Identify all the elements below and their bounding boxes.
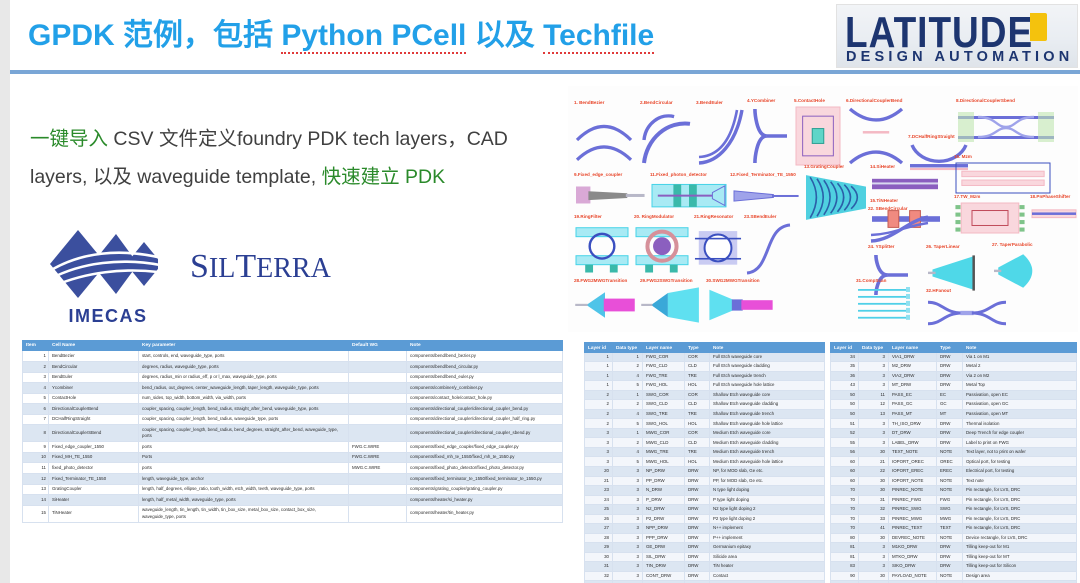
layer-a-cell-r13-c3: DRW: [685, 476, 710, 486]
cell-cell-r12-c1: GratingCoupler: [49, 484, 139, 495]
layer-b-cell-r14-c3: NOTE: [937, 486, 963, 496]
layer-b-cell-r16-c1: 32: [859, 505, 889, 515]
layer-b-cell-r7-c4: Thermal isolation: [963, 419, 1077, 429]
cell-cell-r6-c1: DCHalfRingStraight: [49, 414, 139, 425]
layer-b-cell-r16-c2: PINREC_SWG: [889, 505, 937, 515]
layer-a-cell-r7-c0: 2: [585, 419, 613, 429]
layer-a-cell-r23-c3: DRW: [685, 571, 710, 581]
cell-col-1: Cell Name: [49, 341, 139, 351]
layer-a-cell-r10-c1: 4: [613, 447, 643, 457]
layer-a-cell-r14-c4: N type light doping: [710, 486, 825, 496]
layer-b-cell-r16-c0: 70: [831, 505, 859, 515]
cell-cell-r0-c1: BendBezier: [49, 351, 139, 362]
layer-b-col-2: Layer name: [889, 343, 937, 353]
table-row: 283PPP_DRWDRWP++ implement: [585, 533, 825, 543]
gallery-label: 18.PnPhaseShifter: [1030, 194, 1070, 199]
table-row: 10Fixed_MH_TE_1550PortsFWG.C.WIREcompone…: [23, 452, 563, 463]
layer-a-cell-r20-c2: GE_DRW: [643, 543, 685, 553]
cell-cell-r14-c0: 15: [23, 505, 49, 522]
layer-b-cell-r16-c4: Pin rectangle, for LVS, DRC: [963, 505, 1077, 515]
layer-b-cell-r17-c2: PINREC_MWG: [889, 514, 937, 524]
gallery-item-tw-mzm: 17.TW_Mzm: [954, 194, 1026, 236]
table-row: 313TIN_DRWDRWTiN heater: [585, 562, 825, 572]
layer-a-cell-r12-c2: NP_DRW: [643, 466, 685, 476]
layer-a-cell-r22-c0: 31: [585, 562, 613, 572]
layer-a-cell-r18-c0: 27: [585, 524, 613, 534]
table-row: 22SWG_CLDCLDShallow Etch waveguide cladd…: [585, 400, 825, 410]
layer-a-cell-r1-c0: 1: [585, 362, 613, 372]
cell-cell-r9-c4: components/fixed_mh_te_1550/fixed_mh_te_…: [407, 452, 563, 463]
layer-b-cell-r0-c0: 34: [831, 352, 859, 362]
layer-a-cell-r5-c0: 2: [585, 400, 613, 410]
gallery-label: 15.TiNHeater: [870, 198, 898, 203]
layer-table-b: Layer idData typeLayer nameTypeNote 343V…: [830, 342, 1077, 583]
layer-a-cell-r2-c3: TRE: [685, 371, 710, 381]
cell-cell-r10-c3: MWG.C.WIRE: [349, 463, 407, 474]
table-row: 363VIA2_DRWDRWVia 2 on M2: [831, 371, 1077, 381]
silterra-t: T: [235, 248, 256, 285]
cell-cell-r0-c3: [349, 351, 407, 362]
layer-a-cell-r0-c4: Full Etch waveguide core: [710, 352, 825, 362]
table-row: 32MWG_CLDCLDMedium Etch waveguide claddi…: [585, 438, 825, 448]
cell-cell-r11-c2: length, waveguide_type, anchor: [139, 473, 349, 484]
layer-a-cell-r6-c2: SWG_TRE: [643, 409, 685, 419]
layer-a-col-0: Layer id: [585, 343, 613, 353]
layer-b-cell-r9-c3: DRW: [937, 438, 963, 448]
latitude-tagline: DESIGN AUTOMATION: [846, 49, 1073, 65]
cell-cell-r5-c4: components/directional_coupler/direction…: [407, 404, 563, 415]
layer-a-cell-r4-c3: COR: [685, 390, 710, 400]
layer-a-cell-r19-c3: DRW: [685, 533, 710, 543]
table-row: 293GE_DRWDRWGermanium epitaxy: [585, 543, 825, 553]
hfanout-icon: [926, 295, 1008, 332]
contact-hole-icon: [794, 105, 842, 172]
gallery-item-dc-sbend: 8.DirectionalCouplerSbend: [956, 98, 1056, 156]
layer-a-cell-r9-c1: 2: [613, 438, 643, 448]
layer-b-cell-r12-c3: EREC: [937, 466, 963, 476]
layer-a-cell-r15-c2: P_DRW: [643, 495, 685, 505]
cell-cell-r6-c3: [349, 414, 407, 425]
cell-cell-r9-c0: 10: [23, 452, 49, 463]
gallery-label: 1. BendBezier: [574, 100, 604, 105]
table-row: 7030PINREC_NOTENOTEPin rectangle, for LV…: [831, 486, 1077, 496]
gallery-item-swg2mwg: 30.SWG2MWGTransition: [706, 278, 774, 326]
layer-a-cell-r7-c4: Shallow Etch waveguide hole lattice: [710, 419, 825, 429]
table-row: 6021IOPORT_ORECORECOptical port, for tes…: [831, 457, 1077, 467]
layer-b-cell-r18-c3: TEXT: [937, 524, 963, 534]
cell-cell-r14-c3: [349, 505, 407, 522]
page-title: GPDK 范例，包括 Python PCell 以及 Techfile: [28, 10, 654, 54]
cell-cell-r2-c3: [349, 372, 407, 383]
layer-a-cell-r17-c2: P2_DRW: [643, 514, 685, 524]
layer-b-cell-r19-c1: 30: [859, 533, 889, 543]
gallery-label: 19.RingFilter: [574, 214, 602, 219]
layer-a-cell-r8-c4: Medium Etch waveguide core: [710, 428, 825, 438]
layer-a-cell-r4-c0: 2: [585, 390, 613, 400]
layer-b-cell-r3-c2: MT_DRW: [889, 381, 937, 391]
cell-cell-r10-c0: 11: [23, 463, 49, 474]
layer-b-cell-r6-c2: PASS_MT: [889, 409, 937, 419]
layer-a-cell-r15-c3: DRW: [685, 495, 710, 505]
table-row: 35MWG_HOLHOLMedium Etch waveguide hole l…: [585, 457, 825, 467]
layer-b-cell-r17-c0: 70: [831, 514, 859, 524]
layer-b-cell-r12-c0: 60: [831, 466, 859, 476]
layer-b-cell-r19-c4: Device rectangle, for LVS, DRC: [963, 533, 1077, 543]
ring-resonator-icon: [694, 221, 742, 282]
layer-b-cell-r6-c0: 50: [831, 409, 859, 419]
layer-b-cell-r20-c1: 3: [859, 543, 889, 553]
layer-a-cell-r23-c1: 3: [613, 571, 643, 581]
layer-b-cell-r0-c1: 3: [859, 352, 889, 362]
layer-b-cell-r3-c1: 3: [859, 381, 889, 391]
layer-a-cell-r16-c4: N2 type light doping 2: [710, 505, 825, 515]
layer-b-cell-r0-c2: VIA1_DRW: [889, 352, 937, 362]
layer-b-cell-r22-c0: 83: [831, 562, 859, 572]
cell-col-4: Note: [407, 341, 563, 351]
table-row: 5012PASS_GCGCPassivation, open GC: [831, 400, 1077, 410]
table-row: 31MWG_CORCORMedium Etch waveguide core: [585, 428, 825, 438]
cell-cell-r10-c4: components/fixed_photo_detector/fixed_ph…: [407, 463, 563, 474]
table-row: 203NP_DRWDRWNP, for MOD slab, Ge etc.: [585, 466, 825, 476]
layer-a-cell-r18-c4: N++ implement: [710, 524, 825, 534]
table-row: 5013PASS_MTMTPassivation, open MT: [831, 409, 1077, 419]
cell-cell-r5-c2: coupler_spacing, coupler_length, bend_ra…: [139, 404, 349, 415]
gallery-label: 5.ContactHole: [794, 98, 825, 103]
cell-cell-r3-c0: 4: [23, 383, 49, 394]
layer-a-cell-r2-c1: 4: [613, 371, 643, 381]
layer-b-cell-r23-c0: 90: [831, 571, 859, 581]
layer-b-cell-r12-c2: IOPORT_EREC: [889, 466, 937, 476]
layer-a-cell-r14-c1: 3: [613, 486, 643, 496]
cell-table: ItemCell NameKey parameterDefault WGNote…: [22, 340, 563, 523]
table-row: 343VIA1_DRWDRWVia 1 on M1: [831, 352, 1077, 362]
gallery-label: 17.TW_Mzm: [954, 194, 980, 199]
gallery-label: 11.Fixed_photon_detector: [650, 172, 707, 177]
layer-a-cell-r23-c0: 32: [585, 571, 613, 581]
layer-a-cell-r9-c3: CLD: [685, 438, 710, 448]
slide-header: GPDK 范例，包括 Python PCell 以及 Techfile LATI…: [10, 0, 1080, 72]
gallery-item-bend-circular: 2.BendCircular: [640, 100, 695, 168]
layer-b-cell-r1-c3: DRW: [937, 362, 963, 372]
layer-b-cell-r9-c4: Label to print on FWG: [963, 438, 1077, 448]
layer-a-cell-r16-c3: DRW: [685, 505, 710, 515]
layer-b-cell-r0-c4: Via 1 on M1: [963, 352, 1077, 362]
layer-b-cell-r5-c2: PASS_GC: [889, 400, 937, 410]
layer-a-cell-r5-c3: CLD: [685, 400, 710, 410]
layer-b-cell-r17-c1: 33: [859, 514, 889, 524]
layer-a-col-2: Layer name: [643, 343, 685, 353]
cell-cell-r9-c3: FWG.C.WIRE: [349, 452, 407, 463]
terminator-icon: [730, 179, 800, 218]
intro-text-2: layers, 以及 waveguide template,: [30, 166, 322, 188]
layer-a-cell-r22-c4: TiN heater: [710, 562, 825, 572]
layer-a-cell-r22-c2: TIN_DRW: [643, 562, 685, 572]
layer-b-cell-r21-c2: MTKO_DRW: [889, 552, 937, 562]
gallery-label: 24. YSplitter: [868, 244, 894, 249]
layer-a-cell-r3-c2: FWG_HOL: [643, 381, 685, 391]
layer-b-cell-r10-c4: Text layer, not to print on wafer: [963, 447, 1077, 457]
layer-a-cell-r5-c1: 2: [613, 400, 643, 410]
layer-a-cell-r10-c3: TRE: [685, 447, 710, 457]
layer-b-cell-r13-c1: 30: [859, 476, 889, 486]
gallery-item-contact-hole: 5.ContactHole: [794, 98, 842, 168]
layer-b-cell-r17-c3: MWG: [937, 514, 963, 524]
layer-a-cell-r19-c4: P++ implement: [710, 533, 825, 543]
gallery-label: 3.BendEuler: [696, 100, 723, 105]
gallery-item-dc-bend: 6.DirectionalCouplerBend: [846, 98, 906, 168]
layer-a-cell-r0-c2: FWG_COR: [643, 352, 685, 362]
table-row: 14SiHeaterlength, half_metal_width, wave…: [23, 495, 563, 506]
layer-b-cell-r23-c3: NOTE: [937, 571, 963, 581]
table-row: 21SWG_CORCORShallow Etch waveguide core: [585, 390, 825, 400]
layer-b-cell-r21-c1: 3: [859, 552, 889, 562]
layer-b-cell-r10-c2: TEXT_NOTE: [889, 447, 937, 457]
table-row: 5ContactHolenum_sides, top_width, bottom…: [23, 393, 563, 404]
layer-b-cell-r18-c4: Pin rectangle, for LVS, DRC: [963, 524, 1077, 534]
layer-b-cell-r7-c1: 3: [859, 419, 889, 429]
layer-b-cell-r18-c0: 70: [831, 524, 859, 534]
gallery-label: 32.HFanout: [926, 288, 951, 293]
dc-bend-icon: [846, 105, 906, 172]
cell-cell-r2-c2: degrees, radius_min or radius_eff, p or …: [139, 372, 349, 383]
cell-cell-r13-c1: SiHeater: [49, 495, 139, 506]
gallery-label: 12.Fixed_Terminator_TE_1550: [730, 172, 796, 177]
gallery-label: 9.Fixed_edge_coupler: [574, 172, 622, 177]
table-row: 24SWG_TRETREShallow Etch waveguide trenc…: [585, 409, 825, 419]
table-row: 4Ycombinerbend_radius, out_degrees, cent…: [23, 383, 563, 394]
layer-b-cell-r19-c3: NOTE: [937, 533, 963, 543]
layer-a-cell-r16-c1: 3: [613, 505, 643, 515]
layer-b-cell-r20-c0: 81: [831, 543, 859, 553]
layer-a-cell-r3-c3: HOL: [685, 381, 710, 391]
table-row: 14FWG_TRETREFull Etch waveguide trench: [585, 371, 825, 381]
layer-a-body: 11FWG_CORCORFull Etch waveguide core12FW…: [585, 352, 825, 583]
comp-scan-icon: [856, 285, 914, 330]
layer-table-a: Layer idData typeLayer nameTypeNote 11FW…: [584, 342, 825, 583]
table-row: 12Fixed_Terminator_TE_1550length, wavegu…: [23, 473, 563, 484]
layer-a-cell-r17-c0: 26: [585, 514, 613, 524]
cell-cell-r5-c1: DirectionalCouplerBend: [49, 404, 139, 415]
layer-a-cell-r22-c3: DRW: [685, 562, 710, 572]
cell-cell-r14-c2: waveguide_length, tin_length, tin_width,…: [139, 505, 349, 522]
cell-cell-r11-c4: components/fixed_terminator_te_1550/fixe…: [407, 473, 563, 484]
bend-euler-icon: [696, 107, 746, 172]
layer-b-cell-r3-c0: 43: [831, 381, 859, 391]
gallery-item-si-heater: 14.SiHeater: [870, 164, 940, 198]
layer-a-cell-r13-c0: 21: [585, 476, 613, 486]
layer-a-col-4: Note: [710, 343, 825, 353]
layer-b-cell-r19-c2: DEVREC_NOTE: [889, 533, 937, 543]
latitude-yellow-accent: [1030, 13, 1047, 41]
table-row: 8030DEVREC_NOTENOTEDevice rectangle, for…: [831, 533, 1077, 543]
table-row: 5011PASS_ECECPassivation, open EC: [831, 390, 1077, 400]
layer-b-cell-r16-c3: SWG: [937, 505, 963, 515]
partner-logos: IMECAS SILTERRA: [30, 222, 350, 327]
layer-a-cell-r20-c4: Germanium epitaxy: [710, 543, 825, 553]
edge-coupler-icon: [574, 179, 646, 218]
layer-b-cell-r1-c4: Metal 2: [963, 362, 1077, 372]
swg2mwg-icon: [706, 285, 774, 330]
gallery-item-hfanout: 32.HFanout: [926, 288, 1008, 332]
layer-b-cell-r6-c4: Passivation, open MT: [963, 409, 1077, 419]
layer-b-cell-r1-c0: 35: [831, 362, 859, 372]
cell-cell-r1-c4: components/bend/bend_circular.py: [407, 361, 563, 372]
dc-sbend-icon: [956, 105, 1056, 160]
table-row: 9030PAYLOAD_NOTENOTEDesign area: [831, 571, 1077, 581]
layer-b-cell-r15-c0: 70: [831, 495, 859, 505]
cell-cell-r13-c0: 14: [23, 495, 49, 506]
layer-a-cell-r17-c4: P2 type light doping 2: [710, 514, 825, 524]
layer-a-cell-r2-c0: 1: [585, 371, 613, 381]
table-row: 243P_DRWDRWP type light doping: [585, 495, 825, 505]
layer-a-cell-r13-c1: 3: [613, 476, 643, 486]
layer-a-cell-r7-c3: HOL: [685, 419, 710, 429]
gallery-item-taper-parabolic: 27. TaperParabolic: [992, 242, 1044, 294]
fwg2swg-icon: [640, 285, 702, 330]
cell-cell-r13-c2: length, half_metal_width, waveguide_type…: [139, 495, 349, 506]
layer-b-cell-r14-c2: PINREC_NOTE: [889, 486, 937, 496]
layer-a-cell-r9-c4: Medium Etch waveguide cladding: [710, 438, 825, 448]
silterra-erra: ERRA: [256, 253, 331, 284]
cell-cell-r1-c2: degrees, radius, waveguide_type, ports: [139, 361, 349, 372]
cell-cell-r8-c0: 9: [23, 442, 49, 453]
latitude-logo: LATITUDE DESIGN AUTOMATION: [836, 4, 1078, 68]
layer-a-cell-r6-c4: Shallow Etch waveguide trench: [710, 409, 825, 419]
gallery-label: 7.DCHalfRingStraight: [908, 134, 955, 139]
cell-cell-r9-c1: Fixed_MH_TE_1550: [49, 452, 139, 463]
left-gutter: [0, 0, 10, 583]
cell-table-header-row: ItemCell NameKey parameterDefault WGNote: [23, 341, 563, 351]
layer-b-cell-r13-c2: IOPORT_NOTE: [889, 476, 937, 486]
cell-col-3: Default WG: [349, 341, 407, 351]
layer-b-cell-r15-c3: FWG: [937, 495, 963, 505]
layer-a-cell-r23-c4: Contact: [710, 571, 825, 581]
layer-a-cell-r16-c0: 25: [585, 505, 613, 515]
cell-cell-r3-c3: [349, 383, 407, 394]
cell-cell-r6-c0: 7: [23, 414, 49, 425]
layer-b-cell-r20-c3: DRW: [937, 543, 963, 553]
ring-modulator-icon: [634, 221, 690, 282]
gallery-item-sbend-euler: 23.SBendEuler: [744, 214, 794, 278]
silterra-s: S: [190, 248, 209, 285]
title-part-python-pcell: Python PCell: [281, 19, 466, 54]
layer-b-cell-r17-c4: Pin rectangle, for LVS, DRC: [963, 514, 1077, 524]
bend-bezier-icon: [574, 107, 634, 172]
layer-a-cell-r1-c4: Full Etch waveguide cladding: [710, 362, 825, 372]
layer-b-cell-r12-c1: 22: [859, 466, 889, 476]
table-row: 25SWG_HOLHOLShallow Etch waveguide hole …: [585, 419, 825, 429]
layer-a-cell-r7-c1: 5: [613, 419, 643, 429]
layer-a-cell-r5-c2: SWG_CLD: [643, 400, 685, 410]
layer-a-cell-r14-c3: DRW: [685, 486, 710, 496]
silterra-logo: SILTERRA: [190, 248, 331, 286]
layer-b-cell-r20-c2: M1KO_DRW: [889, 543, 937, 553]
layer-a-cell-r14-c0: 23: [585, 486, 613, 496]
table-row: 813M1KO_DRWDRWTilling keep-out for M1: [831, 543, 1077, 553]
gallery-item-grating-coupler: 13.GratingCoupler: [804, 164, 866, 224]
layer-b-cell-r1-c1: 3: [859, 362, 889, 372]
layer-a-cell-r1-c3: CLD: [685, 362, 710, 372]
layer-b-cell-r15-c4: Pin rectangle, for LVS, DRC: [963, 495, 1077, 505]
layer-a-cell-r13-c2: PP_DRW: [643, 476, 685, 486]
layer-b-cell-r5-c0: 50: [831, 400, 859, 410]
intro-highlight-2: 快速建立 PDK: [322, 166, 446, 188]
gallery-item-sbend-circular: 22. SBendCircular: [868, 206, 932, 246]
layer-a-cell-r14-c2: N_DRW: [643, 486, 685, 496]
cell-col-2: Key parameter: [139, 341, 349, 351]
layer-a-header-row: Layer idData typeLayer nameTypeNote: [585, 343, 825, 353]
layer-b-cell-r8-c1: 3: [859, 428, 889, 438]
layer-a-cell-r17-c1: 3: [613, 514, 643, 524]
intro-paragraph: 一键导入 CSV 文件定义foundry PDK tech layers，CAD…: [30, 120, 550, 196]
layer-b-cell-r5-c1: 12: [859, 400, 889, 410]
layer-b-cell-r14-c1: 30: [859, 486, 889, 496]
layer-a-cell-r15-c1: 3: [613, 495, 643, 505]
gallery-label: 28.FWG2MWGTransition: [574, 278, 627, 283]
layer-b-cell-r7-c3: DRW: [937, 419, 963, 429]
cell-cell-r3-c2: bend_radius, out_degrees, center_wavegui…: [139, 383, 349, 394]
title-part-cn: 范例，包括: [123, 19, 281, 52]
layer-b-cell-r22-c2: SIKO_DRW: [889, 562, 937, 572]
layer-a-cell-r10-c4: Medium Etch waveguide trench: [710, 447, 825, 457]
gallery-item-fwg2mwg: 28.FWG2MWGTransition: [574, 278, 636, 326]
layer-a-col-3: Type: [685, 343, 710, 353]
table-row: 13GratingCouplerlength, half_degrees, el…: [23, 484, 563, 495]
cell-cell-r12-c4: components/grating_coupler/grating_coupl…: [407, 484, 563, 495]
layer-a-cell-r15-c0: 24: [585, 495, 613, 505]
layer-a-cell-r0-c1: 1: [613, 352, 643, 362]
layer-b-cell-r23-c4: Design area: [963, 571, 1077, 581]
layer-b-cell-r4-c3: EC: [937, 390, 963, 400]
layer-b-cell-r2-c3: DRW: [937, 371, 963, 381]
layer-b-cell-r4-c4: Passivation, open EC: [963, 390, 1077, 400]
layer-b-cell-r8-c3: DRW: [937, 428, 963, 438]
cell-cell-r0-c4: components/bend/bend_bezier.py: [407, 351, 563, 362]
layer-a-cell-r20-c1: 3: [613, 543, 643, 553]
layer-b-cell-r7-c0: 51: [831, 419, 859, 429]
gallery-label: 21.RingResonator: [694, 214, 733, 219]
table-row: 273NPP_DRWDRWN++ implement: [585, 524, 825, 534]
gallery-item-bend-bezier: 1. BendBezier: [574, 100, 634, 168]
table-row: 11fixed_photo_detectorportsMWG.C.WIREcom…: [23, 463, 563, 474]
layer-a-cell-r23-c2: CONT_DRW: [643, 571, 685, 581]
layer-a-cell-r11-c3: HOL: [685, 457, 710, 467]
layer-b-cell-r11-c0: 60: [831, 457, 859, 467]
table-row: 12FWG_CLDCLDFull Etch waveguide cladding: [585, 362, 825, 372]
photo-detector-icon: [650, 179, 728, 218]
table-row: 813MTKO_DRWDRWTilling keep-out for MT: [831, 552, 1077, 562]
gallery-item-ring-filter: 19.RingFilter: [574, 214, 630, 278]
gallery-item-ring-resonator: 21.RingResonator: [694, 214, 742, 278]
layer-a-cell-r3-c1: 5: [613, 381, 643, 391]
table-row: 1BendBezierstart, controls, end, wavegui…: [23, 351, 563, 362]
layer-a-cell-r11-c2: MWG_HOL: [643, 457, 685, 467]
bend-circular-icon: [640, 107, 695, 172]
layer-b-cell-r3-c3: DRW: [937, 381, 963, 391]
layer-a-cell-r19-c1: 3: [613, 533, 643, 543]
cell-cell-r4-c2: num_sides, top_width, bottom_width, via_…: [139, 393, 349, 404]
layer-a-cell-r19-c0: 28: [585, 533, 613, 543]
gallery-item-bend-euler: 3.BendEuler: [696, 100, 746, 168]
table-row: 15FWG_HOLHOLFull Etch waveguide hole lat…: [585, 381, 825, 391]
layer-a-cell-r9-c0: 3: [585, 438, 613, 448]
layer-a-cell-r13-c4: PP, for MOD slab, Ge etc.: [710, 476, 825, 486]
layer-b-cell-r10-c0: 56: [831, 447, 859, 457]
layer-b-cell-r15-c1: 31: [859, 495, 889, 505]
layer-b-cell-r1-c2: M2_DRW: [889, 362, 937, 372]
cell-cell-r3-c4: components/combiner/y_combiner.py: [407, 383, 563, 394]
layer-a-cell-r12-c0: 20: [585, 466, 613, 476]
